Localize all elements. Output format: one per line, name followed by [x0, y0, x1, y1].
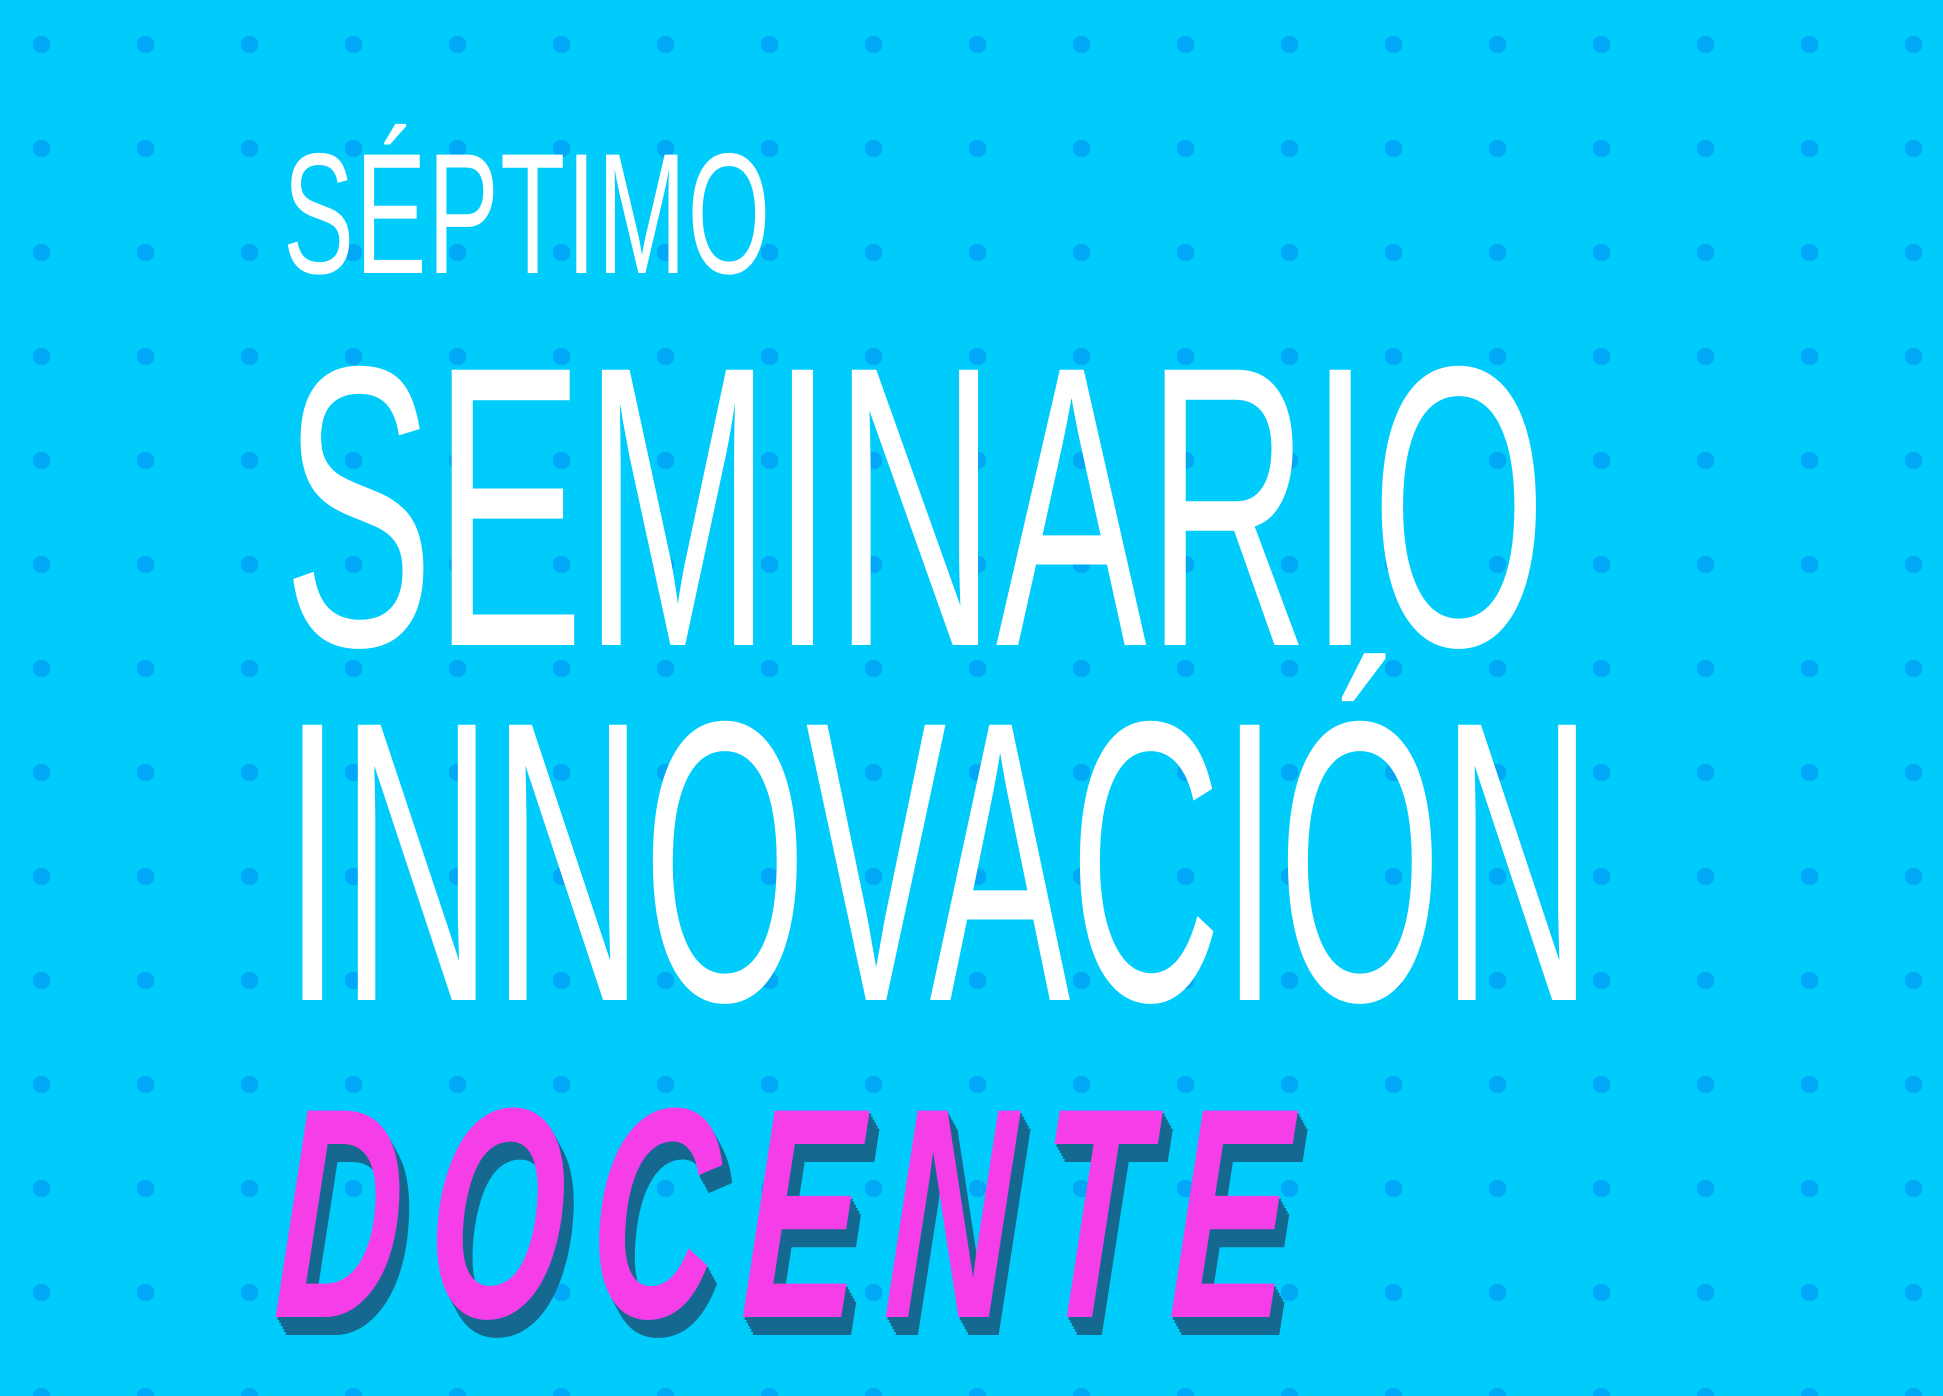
headline-ordinal: SÉPTIMO — [283, 128, 772, 300]
headline-word-innovacion: INNOVACIÓN — [283, 662, 1592, 1062]
headline-word-docente: DOCENTE — [271, 1063, 1322, 1363]
headline-text-block: SÉPTIMO SEMINARIO INNOVACIÓN DOCENTE — [283, 0, 1703, 1396]
poster-canvas: SÉPTIMO SEMINARIO INNOVACIÓN DOCENTE — [0, 0, 1943, 1396]
